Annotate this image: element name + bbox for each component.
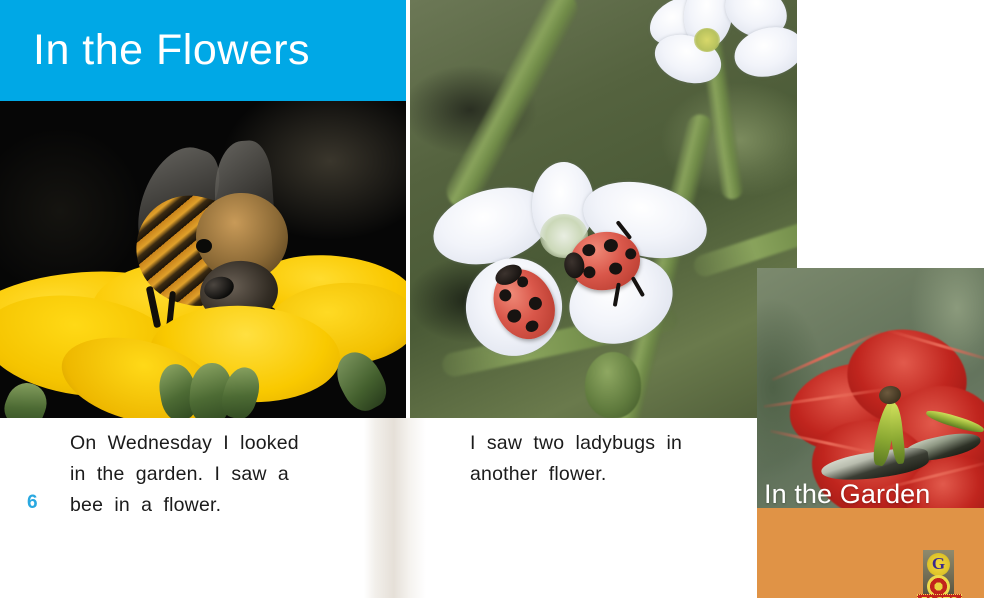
left-page-text: On Wednesday I looked in the garden. I s… (70, 428, 370, 521)
ladybug-spot (505, 307, 523, 325)
screenshot-root: In the Flowers (0, 0, 984, 598)
bee-eye (196, 239, 212, 253)
ladybug-spot (527, 295, 544, 312)
text-line: bee in a flower. (70, 490, 370, 521)
text-line-content: in the garden. I saw a (70, 459, 289, 490)
book-spread: In the Flowers (0, 0, 800, 598)
ladybug-spot (625, 248, 637, 260)
right-page-text: I saw two ladybugs in another flower. (470, 428, 760, 490)
text-line-content: bee in a flower. (70, 490, 221, 521)
logo-wordmark: FACTS (917, 594, 962, 598)
ladybug-spot (582, 243, 597, 257)
ladybug-spot (608, 262, 623, 276)
go-facts-logo: G FACTS (919, 550, 959, 598)
page-title: In the Flowers (0, 29, 310, 72)
bee-photo (0, 101, 406, 418)
ladybug-spot (524, 318, 541, 334)
ladybug-spot (603, 238, 619, 253)
book-cover-thumbnail[interactable]: In the Garden G FACTS (757, 268, 984, 598)
text-line: another flower. (470, 459, 760, 490)
text-line: I saw two ladybugs in (470, 428, 760, 459)
ladybug-photo (410, 0, 797, 418)
text-line: in the garden. I saw a (70, 459, 370, 490)
grasshopper-photo (757, 268, 984, 508)
cover-title: In the Garden (757, 481, 984, 508)
flower-center (694, 28, 720, 52)
text-line-content: On Wednesday I looked (70, 428, 299, 459)
left-page: In the Flowers (0, 0, 406, 598)
ladybug-spot (497, 287, 513, 303)
ladybug-spot (583, 266, 597, 280)
white-flower-upper (638, 0, 797, 130)
page-number: 6 (27, 492, 38, 514)
text-line-content: another flower. (470, 459, 607, 490)
chapter-title-banner: In the Flowers (0, 0, 406, 101)
text-line-content: I saw two ladybugs in (470, 428, 682, 459)
logo-letter-g-icon: G (927, 553, 950, 576)
text-line: On Wednesday I looked (70, 428, 370, 459)
